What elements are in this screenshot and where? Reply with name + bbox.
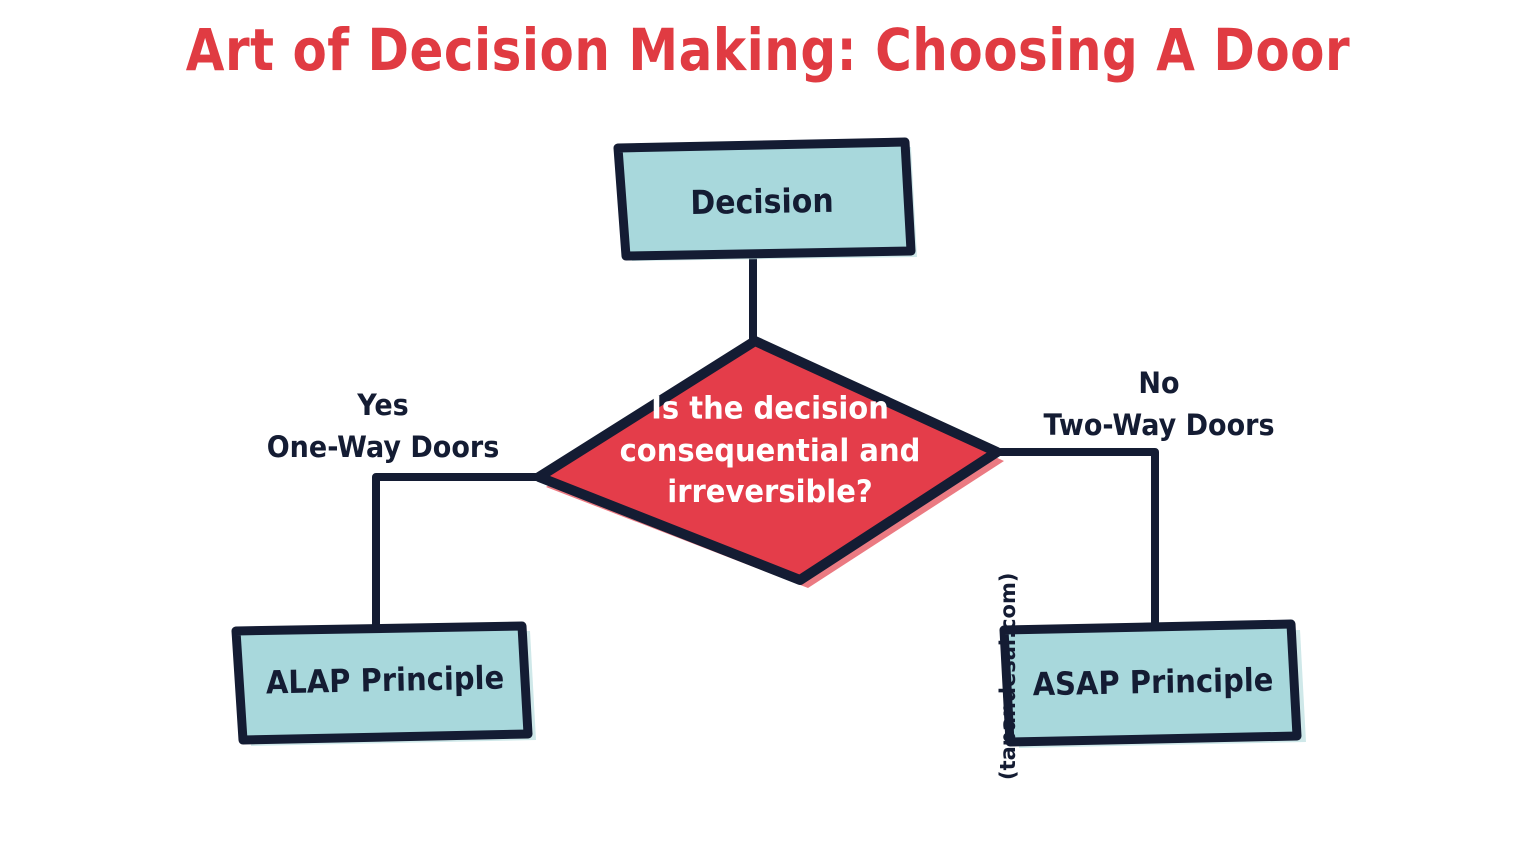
question-line-3: irreversible? [610,471,930,513]
diagram-canvas: Art of Decision Making: Choosing A Door [0,0,1536,864]
alap-node-label: ALAP Principle [240,658,531,702]
edge-yes-line-1: Yes [255,385,511,427]
watermark-credit: (tapandesai.com) [996,620,1020,780]
edge-label-no: No Two-Way Doors [1031,363,1287,448]
question-line-1: Is the decision [610,387,930,429]
question-node-label: Is the decision consequential and irreve… [610,387,930,512]
question-line-2: consequential and [610,429,930,471]
decision-node-label: Decision [617,181,908,224]
asap-node-label: ASAP Principle [1008,661,1299,704]
edge-no-line-2: Two-Way Doors [1031,405,1287,447]
edge-no-line-1: No [1031,363,1287,405]
edge-label-yes: Yes One-Way Doors [255,385,511,470]
connector-question-to-alap [376,477,540,638]
edge-yes-line-2: One-Way Doors [255,427,511,469]
